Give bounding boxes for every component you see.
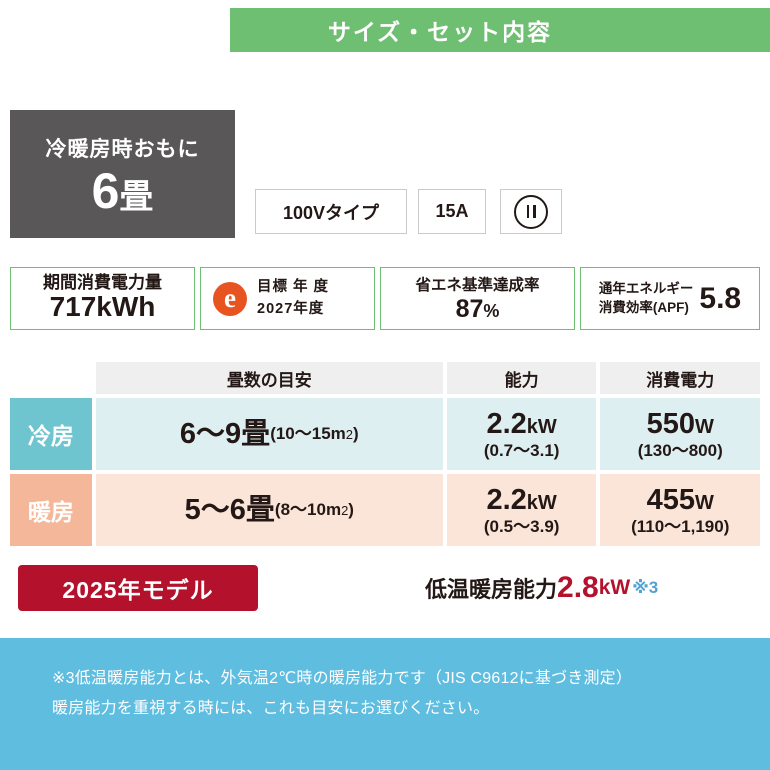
page-title: サイズ・セット内容 xyxy=(230,8,650,52)
heating-consumption-number: 455 xyxy=(647,484,695,516)
heating-consumption-main: 455W xyxy=(647,484,714,516)
target-year-box: e 目標 年 度 2027年度 xyxy=(200,267,375,330)
tatami-value: 6畳 xyxy=(92,165,154,218)
table-header-capacity: 能力 xyxy=(447,362,597,394)
target-year-text: 目標 年 度 2027年度 xyxy=(257,277,329,319)
model-year-badge: 2025年モデル xyxy=(18,565,258,611)
footer-line1: ※3低温暖房能力とは、外気温2℃時の暖房能力です（JIS C9612に基づき測定… xyxy=(52,664,732,694)
cell-cooling-consumption: 550W (130〜800) xyxy=(600,398,760,470)
heating-tatami-sub: (8〜10m xyxy=(275,500,341,519)
cooling-consumption-unit: W xyxy=(695,416,714,438)
heating-tatami-main: 5〜6畳 xyxy=(185,494,275,526)
footer-text: ※3低温暖房能力とは、外気温2℃時の暖房能力です（JIS C9612に基づき測定… xyxy=(52,664,732,723)
cooling-capacity-range: (0.7〜3.1) xyxy=(484,441,560,460)
table-header-consumption: 消費電力 xyxy=(600,362,760,394)
heating-capacity-unit: kW xyxy=(527,492,557,514)
cooling-capacity-number: 2.2 xyxy=(486,408,526,440)
cooling-consumption-main: 550W xyxy=(647,408,714,440)
low-temp-footnote-marker: ※3 xyxy=(632,578,658,598)
apf-label: 通年エネルギー 消費効率(APF) xyxy=(599,280,694,316)
standard-achievement-label: 省エネ基準達成率 xyxy=(415,273,539,295)
low-temp-value: 2.8 xyxy=(557,571,599,605)
standard-achievement-box: 省エネ基準達成率 87% xyxy=(380,267,575,330)
row-label-heating: 暖房 xyxy=(10,474,92,546)
energy-spec-row: 期間消費電力量 717kWh e 目標 年 度 2027年度 省エネ基準達成率 … xyxy=(10,267,760,330)
footer-line2: 暖房能力を重視する時には、これも目安にお選びください。 xyxy=(52,694,732,724)
cooling-tatami-sub: (10〜15m xyxy=(270,424,346,443)
low-temp-heating-capacity: 低温暖房能力 2.8 kW ※3 xyxy=(425,565,658,611)
heating-tatami-sup: 2 xyxy=(341,503,348,518)
power-consumption-label: 期間消費電力量 xyxy=(43,274,162,293)
target-year-line1: 目標 年 度 xyxy=(257,277,329,298)
apf-line2: 消費効率(APF) xyxy=(599,299,694,317)
standard-achievement-number: 87 xyxy=(456,295,484,323)
heating-consumption-unit: W xyxy=(695,492,714,514)
heating-capacity-main: 2.2kW xyxy=(486,484,556,516)
table-header-spacer xyxy=(10,362,92,394)
e-mark-icon: e xyxy=(213,282,247,316)
cooling-tatami-main: 6〜9畳 xyxy=(180,418,270,450)
tatami-unit: 畳 xyxy=(119,178,153,216)
cooling-consumption-number: 550 xyxy=(647,408,695,440)
tatami-label: 冷暖房時おもに xyxy=(46,133,200,163)
cell-cooling-tatami: 6〜9畳(10〜15m2) xyxy=(96,398,443,470)
heating-consumption-range: (110〜1,190) xyxy=(631,517,729,536)
amperage-badge: 15A xyxy=(418,189,486,234)
tatami-size-block: 冷暖房時おもに 6畳 xyxy=(10,110,235,238)
row-label-cooling: 冷房 xyxy=(10,398,92,470)
low-temp-unit: kW xyxy=(599,576,631,600)
standard-achievement-value: 87% xyxy=(456,295,500,324)
footer-note: ※3低温暖房能力とは、外気温2℃時の暖房能力です（JIS C9612に基づき測定… xyxy=(0,638,770,770)
table-header-tatami: 畳数の目安 xyxy=(96,362,443,394)
table-row: 冷房 6〜9畳(10〜15m2) 2.2kW (0.7〜3.1) 550W (1… xyxy=(10,398,760,470)
tatami-number: 6 xyxy=(92,163,120,219)
power-consumption-box: 期間消費電力量 717kWh xyxy=(10,267,195,330)
apf-box: 通年エネルギー 消費効率(APF) 5.8 xyxy=(580,267,760,330)
pause-badge xyxy=(500,189,562,234)
target-year-line2: 2027年度 xyxy=(257,299,329,320)
cooling-capacity-main: 2.2kW xyxy=(486,408,556,440)
cell-heating-consumption: 455W (110〜1,190) xyxy=(600,474,760,546)
heating-capacity-range: (0.5〜3.9) xyxy=(484,517,560,536)
spec-table: 畳数の目安 能力 消費電力 冷房 6〜9畳(10〜15m2) 2.2kW (0.… xyxy=(10,362,760,546)
power-consumption-value: 717kWh xyxy=(50,292,156,323)
cooling-consumption-range: (130〜800) xyxy=(638,441,723,460)
table-row: 暖房 5〜6畳(8〜10m2) 2.2kW (0.5〜3.9) 455W (11… xyxy=(10,474,760,546)
cooling-tatami-sup: 2 xyxy=(346,427,353,442)
apf-line1: 通年エネルギー xyxy=(599,280,694,298)
standard-achievement-unit: % xyxy=(483,301,499,321)
low-temp-label: 低温暖房能力 xyxy=(425,572,557,604)
apf-value: 5.8 xyxy=(699,282,741,316)
heating-tatami-sub-end: ) xyxy=(348,500,354,519)
cell-cooling-capacity: 2.2kW (0.7〜3.1) xyxy=(447,398,597,470)
cooling-capacity-unit: kW xyxy=(527,416,557,438)
cooling-tatami-sub-end: ) xyxy=(353,424,359,443)
voltage-badge: 100Vタイプ xyxy=(255,189,407,234)
pause-icon xyxy=(514,195,548,229)
heating-capacity-number: 2.2 xyxy=(486,484,526,516)
table-header-row: 畳数の目安 能力 消費電力 xyxy=(10,362,760,394)
header: サイズ・セット内容 xyxy=(0,0,770,60)
product-spec-panel: サイズ・セット内容 冷暖房時おもに 6畳 100Vタイプ 15A 期間消費電力量… xyxy=(0,0,770,770)
cell-heating-capacity: 2.2kW (0.5〜3.9) xyxy=(447,474,597,546)
cell-heating-tatami: 5〜6畳(8〜10m2) xyxy=(96,474,443,546)
